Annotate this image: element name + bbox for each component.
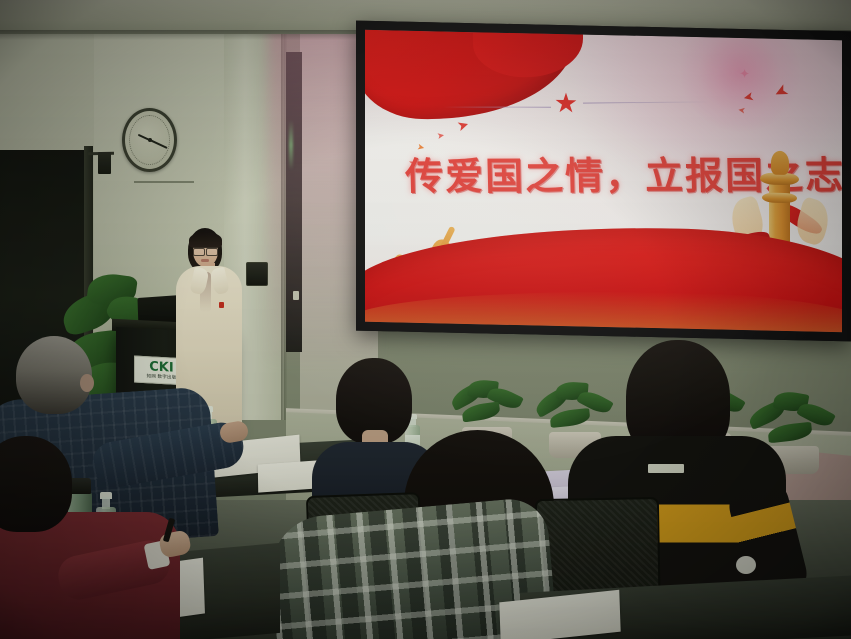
wall-bracket-box <box>98 152 111 174</box>
glasses-lens <box>206 248 218 256</box>
slide-title: 传爱国之情，立报国之志 <box>404 145 805 201</box>
attendee-hand <box>736 556 756 574</box>
presenter-badge <box>219 302 224 308</box>
light-switch[interactable] <box>293 291 299 300</box>
dove-icon: ➤ <box>455 117 470 134</box>
wall-clock <box>122 108 177 172</box>
slide-divider-left <box>443 107 551 108</box>
red-star-icon: ★ <box>553 90 579 117</box>
dove-icon: ➤ <box>436 131 445 141</box>
huabiao-ring <box>762 192 797 203</box>
wall-seam <box>134 181 194 183</box>
glasses-icon <box>193 247 218 254</box>
slide-canvas: ✦ ➤ ➤ ➤ ➤ ➤ ➤ ➤ ★ 传爱国之情，立报国之志 汇报人：吴思敏 日期… <box>365 30 842 332</box>
attendee-head <box>16 336 92 414</box>
attendee-ear <box>80 374 94 392</box>
huabiao-cap <box>771 151 789 175</box>
jacket-label-tag <box>648 464 684 473</box>
huabiao-wing <box>793 196 834 247</box>
led-screen[interactable]: ✦ ➤ ➤ ➤ ➤ ➤ ➤ ➤ ★ 传爱国之情，立报国之志 汇报人：吴思敏 日期… <box>356 21 851 342</box>
conference-room-photo: ✦ ➤ ➤ ➤ ➤ ➤ ➤ ➤ ★ 传爱国之情，立报国之志 汇报人：吴思敏 日期… <box>0 0 851 639</box>
presenter-fringe <box>189 232 222 248</box>
slide-sparkle-icon: ✦ <box>739 66 750 82</box>
wall-control-panel[interactable] <box>246 262 268 286</box>
attendee-maroon-writing <box>0 470 220 639</box>
glasses-lens <box>193 248 205 256</box>
plant-foliage <box>448 378 526 431</box>
clock-center-pin <box>148 138 152 142</box>
presenter-mouth <box>201 259 209 262</box>
